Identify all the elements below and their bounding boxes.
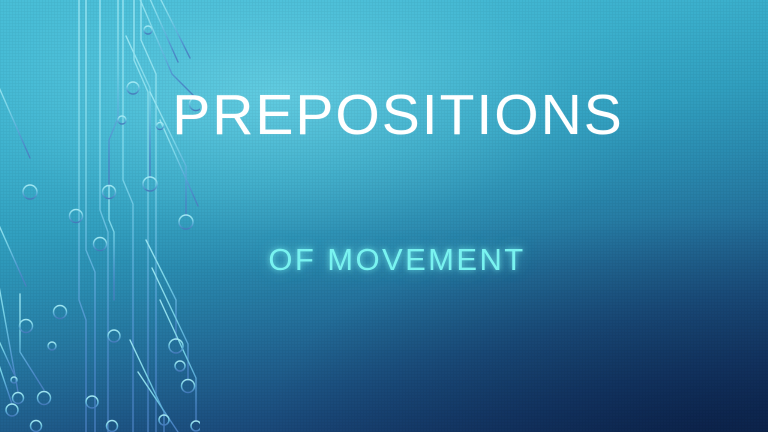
presentation-slide: PREPOSITIONS OF MOVEMENT xyxy=(0,0,768,432)
slide-text-layer: PREPOSITIONS OF MOVEMENT xyxy=(0,0,768,432)
slide-subtitle: OF MOVEMENT xyxy=(0,243,768,277)
slide-title: PREPOSITIONS xyxy=(0,86,768,146)
